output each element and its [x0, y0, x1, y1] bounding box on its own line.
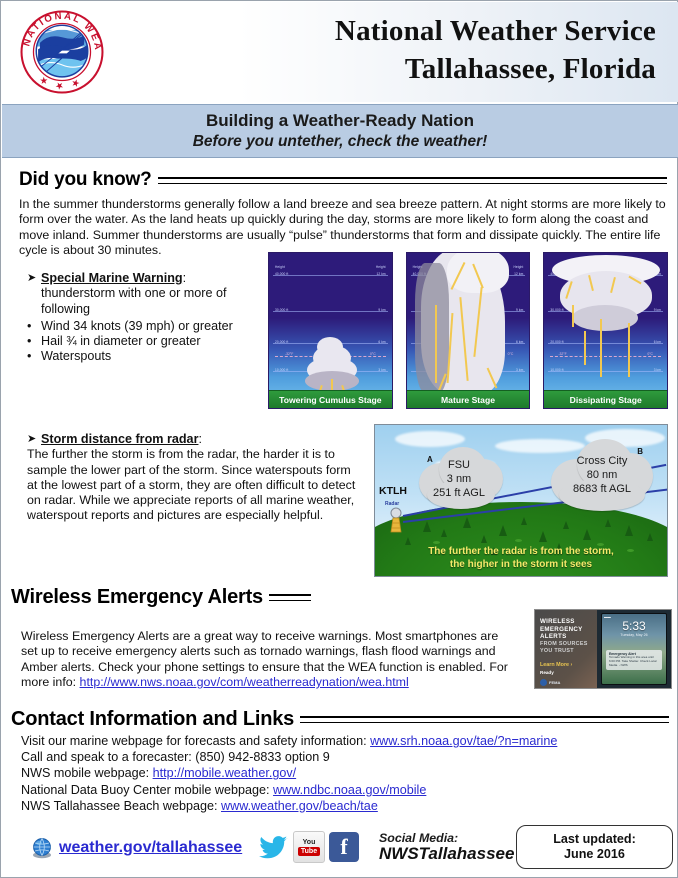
- phone-mockup: ▬▬ 5:33 Tuesday, May 26 Emergency Alert …: [601, 613, 667, 685]
- temp-label-right: 0°C: [508, 352, 514, 356]
- wea-paragraph: Wireless Emergency Alerts are a great wa…: [21, 629, 515, 691]
- contact-row: NWS mobile webpage: http://mobile.weathe…: [21, 765, 671, 781]
- tick-label-km: 6 km: [654, 340, 661, 344]
- list-item: • Hail ¾ in diameter or greater: [27, 334, 252, 349]
- height-label-right: Height: [376, 265, 386, 269]
- cross-city-height: 8683 ft AGL: [547, 483, 657, 497]
- tick-label: 30,000 ft: [550, 308, 563, 312]
- tick-label: 10,000 ft: [550, 368, 563, 372]
- contact-row: Visit our marine webpage for forecasts a…: [21, 733, 671, 749]
- social-icons: You Tube f: [259, 831, 367, 863]
- tick-label-km: 12 km: [514, 272, 523, 276]
- contact-row: Call and speak to a forecaster: (850) 94…: [21, 749, 671, 765]
- tick-label-km: 6 km: [516, 340, 523, 344]
- wea-promo-title: WIRELESS EMERGENCY ALERTS: [540, 618, 597, 641]
- wea-link[interactable]: http://www.nws.noaa.gov/com/weatherready…: [80, 675, 409, 689]
- dot-bullet-icon: •: [27, 349, 41, 364]
- storm-distance-paragraph: The further the storm is from the radar,…: [27, 447, 357, 523]
- storm-distance-heading-row: ➤ Storm distance from radar:: [27, 432, 357, 447]
- stage-figure-towering-cumulus: Height Height 40,000 ft 12 km 30,000 ft …: [268, 252, 393, 409]
- wea-title: Wireless Emergency Alerts: [11, 586, 263, 609]
- last-updated-box: Last updated: June 2016: [516, 825, 673, 869]
- cross-city-distance: 80 nm: [547, 469, 657, 483]
- thunderstorm-stage-figures: Height Height 40,000 ft 12 km 30,000 ft …: [268, 252, 668, 409]
- height-label: Height: [275, 265, 285, 269]
- tick-label-km: 3 km: [516, 368, 523, 372]
- tick-label-km: 9 km: [516, 308, 523, 312]
- contact-row: NWS Tallahassee Beach webpage: www.weath…: [21, 798, 671, 814]
- smw-bullet-text: Waterspouts: [41, 349, 111, 364]
- fsu-distance: 3 nm: [413, 473, 505, 487]
- title-line-2: Tallahassee, Florida: [335, 50, 656, 88]
- caption-line-2: the higher in the storm it sees: [375, 559, 667, 572]
- wea-promo-image: WIRELESS EMERGENCY ALERTS FROM SOURCES Y…: [534, 609, 672, 689]
- contact-row: National Data Buoy Center mobile webpage…: [21, 782, 671, 798]
- caption-line-1: The further the radar is from the storm,: [375, 546, 667, 559]
- heading-rule: [269, 594, 311, 601]
- did-you-know-title: Did you know?: [19, 169, 152, 191]
- youtube-line-2: Tube: [298, 847, 320, 856]
- contact-label: Visit our marine webpage for forecasts a…: [21, 734, 370, 748]
- nws-logo-icon: NATIONAL WEATHER SERVICE: [14, 6, 110, 98]
- radar-site-label: KTLH: [379, 485, 407, 497]
- tick-label-km: 3 km: [654, 368, 661, 372]
- alert-body: Tornado Warning in this area until 6:00 …: [609, 656, 659, 668]
- phone-date: Tuesday, May 26: [602, 633, 666, 637]
- heading-rule: [300, 716, 669, 723]
- youtube-line-1: You: [303, 839, 316, 846]
- tick-label: 20,000 ft: [275, 340, 288, 344]
- storm-distance-heading: Storm distance from radar:: [41, 432, 202, 447]
- point-a-marker: A: [427, 455, 433, 464]
- tagline-banner: Building a Weather-Ready Nation Before y…: [2, 104, 678, 158]
- globe-icon: [31, 837, 53, 859]
- stage-caption: Mature Stage: [407, 390, 530, 408]
- storm-cloud-fsu: A FSU 3 nm 251 ft AGL: [413, 441, 505, 511]
- social-media-label: Social Media:: [379, 831, 458, 845]
- arrow-bullet-icon: ➤: [27, 432, 41, 447]
- section-header-contact: Contact Information and Links: [11, 708, 669, 731]
- flyer-page: NATIONAL WEATHER SERVICE: [0, 0, 678, 878]
- facebook-icon[interactable]: f: [329, 832, 359, 862]
- contact-link[interactable]: http://mobile.weather.gov/: [153, 766, 297, 780]
- tick-label: 10,000 ft: [275, 368, 288, 372]
- smw-bullet-text: Hail ¾ in diameter or greater: [41, 334, 201, 349]
- radar-diagram-caption: The further the radar is from the storm,…: [375, 546, 667, 571]
- fsu-height: 251 ft AGL: [413, 487, 505, 501]
- contact-link[interactable]: www.srh.noaa.gov/tae/?n=marine: [370, 734, 557, 748]
- radar-beam-diagram: A FSU 3 nm 251 ft AGL B Cross City 80 nm…: [374, 424, 668, 577]
- fema-seal-icon: [540, 679, 547, 686]
- wea-promo-right-panel: ▬▬ 5:33 Tuesday, May 26 Emergency Alert …: [597, 610, 671, 688]
- heading-rule: [158, 177, 667, 184]
- list-item: • Wind 34 knots (39 mph) or greater: [27, 319, 252, 334]
- contact-link[interactable]: www.weather.gov/beach/tae: [221, 799, 378, 813]
- contact-label: NWS Tallahassee Beach webpage:: [21, 799, 221, 813]
- phone-alert-notification: Emergency Alert Tornado Warning in this …: [606, 650, 662, 670]
- banner-line-2: Before you untether, check the weather!: [193, 132, 488, 152]
- tick-label: 30,000 ft: [275, 308, 288, 312]
- dot-bullet-icon: •: [27, 334, 41, 349]
- title-line-1: National Weather Service: [335, 12, 656, 50]
- radar-tower-icon: [385, 507, 407, 538]
- smw-heading: Special Marine Warning:: [41, 271, 186, 286]
- storm-distance-block: ➤ Storm distance from radar: The further…: [27, 432, 357, 523]
- wea-promo-subtitle: FROM SOURCES YOU TRUST: [540, 641, 597, 654]
- special-marine-warning-list: ➤ Special Marine Warning: thunderstorm w…: [27, 271, 252, 365]
- stage-figure-mature: Height Height 40,000 ft 12 km 9 km 6 km …: [406, 252, 531, 409]
- tick-label-km: 3 km: [378, 368, 385, 372]
- wea-promo-left-panel: WIRELESS EMERGENCY ALERTS FROM SOURCES Y…: [535, 610, 597, 688]
- temp-label-left: -32°F: [558, 352, 566, 356]
- temp-label-right: 0°C: [370, 352, 376, 356]
- tick-label: 40,000 ft: [275, 272, 288, 276]
- footer-link-text[interactable]: weather.gov/tallahassee: [59, 839, 242, 856]
- temp-label-left: -32°F: [285, 352, 293, 356]
- stage-caption: Towering Cumulus Stage: [269, 390, 392, 408]
- smw-heading-row: ➤ Special Marine Warning:: [27, 271, 252, 286]
- contact-label: National Data Buoy Center mobile webpage…: [21, 783, 273, 797]
- did-you-know-paragraph: In the summer thunderstorms generally fo…: [19, 197, 667, 259]
- contact-label: NWS mobile webpage:: [21, 766, 153, 780]
- contact-link[interactable]: www.ndbc.noaa.gov/mobile: [273, 783, 426, 797]
- stage-figure-dissipating: 40,000 ft 12 km 30,000 ft 9 km 20,000 ft…: [543, 252, 668, 409]
- tick-label-km: 12 km: [376, 272, 385, 276]
- phone-time: 5:33: [602, 620, 666, 632]
- section-header-did-you-know: Did you know?: [19, 169, 667, 191]
- tick-label-km: 9 km: [654, 308, 661, 312]
- stage-caption: Dissipating Stage: [544, 390, 667, 408]
- last-updated-label: Last updated:: [553, 832, 636, 847]
- last-updated-date: June 2016: [564, 847, 625, 862]
- twitter-icon[interactable]: [259, 832, 289, 862]
- tick-label-km: 9 km: [378, 308, 385, 312]
- phone-status-bar: ▬▬: [604, 615, 611, 619]
- storm-cloud-cross-city: B Cross City 80 nm 8683 ft AGL: [547, 435, 657, 513]
- tick-label: 20,000 ft: [550, 340, 563, 344]
- arrow-bullet-icon: ➤: [27, 271, 41, 286]
- social-media-handle: NWSTallahassee: [379, 844, 514, 864]
- point-b-marker: B: [637, 447, 643, 456]
- list-item: • Waterspouts: [27, 349, 252, 364]
- page-title: National Weather Service Tallahassee, Fl…: [335, 12, 656, 89]
- facebook-glyph: f: [340, 836, 347, 858]
- section-header-wea: Wireless Emergency Alerts: [11, 586, 311, 609]
- fema-label: FEMA: [549, 680, 560, 685]
- tick-label-km: 6 km: [378, 340, 385, 344]
- contact-list: Visit our marine webpage for forecasts a…: [21, 733, 671, 814]
- temp-label-right: 0°C: [647, 352, 653, 356]
- fema-logo: FEMA: [540, 679, 560, 686]
- cross-city-name: Cross City: [547, 455, 657, 469]
- ready-logo: Ready: [540, 670, 554, 675]
- wea-promo-cta: Learn More ›: [540, 662, 572, 668]
- smw-bullet-text: Wind 34 knots (39 mph) or greater: [41, 319, 233, 334]
- smw-subtitle: thunderstorm with one or more of followi…: [27, 286, 252, 317]
- banner-line-1: Building a Weather-Ready Nation: [206, 110, 474, 131]
- height-label-right: Height: [514, 265, 524, 269]
- footer-main-link[interactable]: weather.gov/tallahassee: [59, 839, 242, 857]
- dot-bullet-icon: •: [27, 319, 41, 334]
- page-header: NATIONAL WEATHER SERVICE: [2, 2, 678, 102]
- youtube-icon[interactable]: You Tube: [293, 831, 325, 863]
- contact-title: Contact Information and Links: [11, 708, 294, 731]
- contact-label: Call and speak to a forecaster: (850) 94…: [21, 750, 330, 764]
